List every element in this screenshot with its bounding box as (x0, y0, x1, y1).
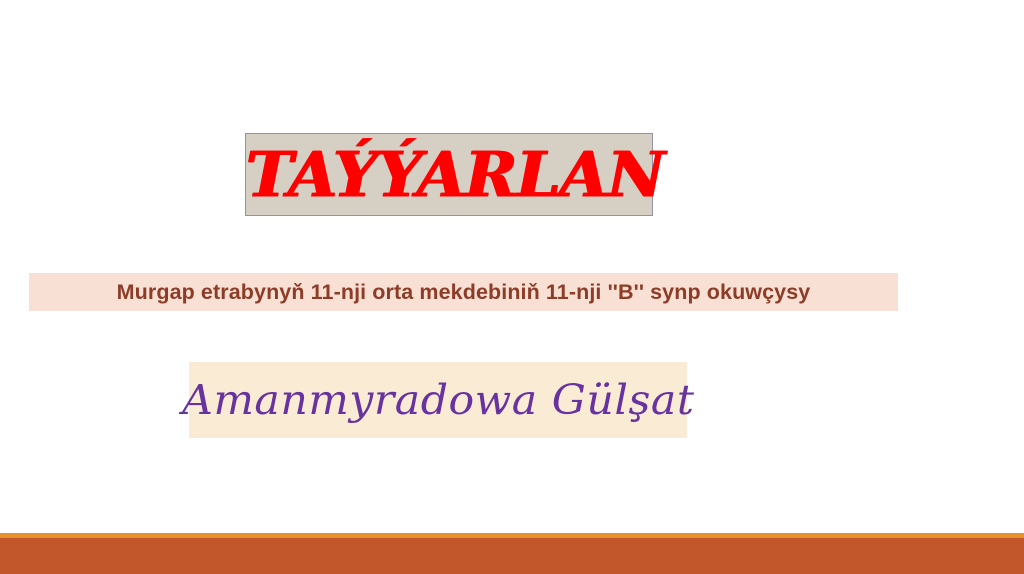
name-box: Amanmyradowa Gülşat (189, 362, 687, 438)
footer-main-bar (0, 538, 1024, 574)
subtitle-band: Murgap etrabynyň 11-nji orta mekdebiniň … (29, 273, 898, 311)
title-text: TAÝÝARLAN (246, 143, 662, 206)
slide-canvas: TAÝÝARLAN Murgap etrabynyň 11-nji orta m… (0, 0, 1024, 574)
title-box: TAÝÝARLAN (245, 133, 653, 216)
subtitle-text: Murgap etrabynyň 11-nji orta mekdebiniň … (117, 280, 811, 305)
student-name-text: Amanmyradowa Gülşat (182, 380, 694, 421)
